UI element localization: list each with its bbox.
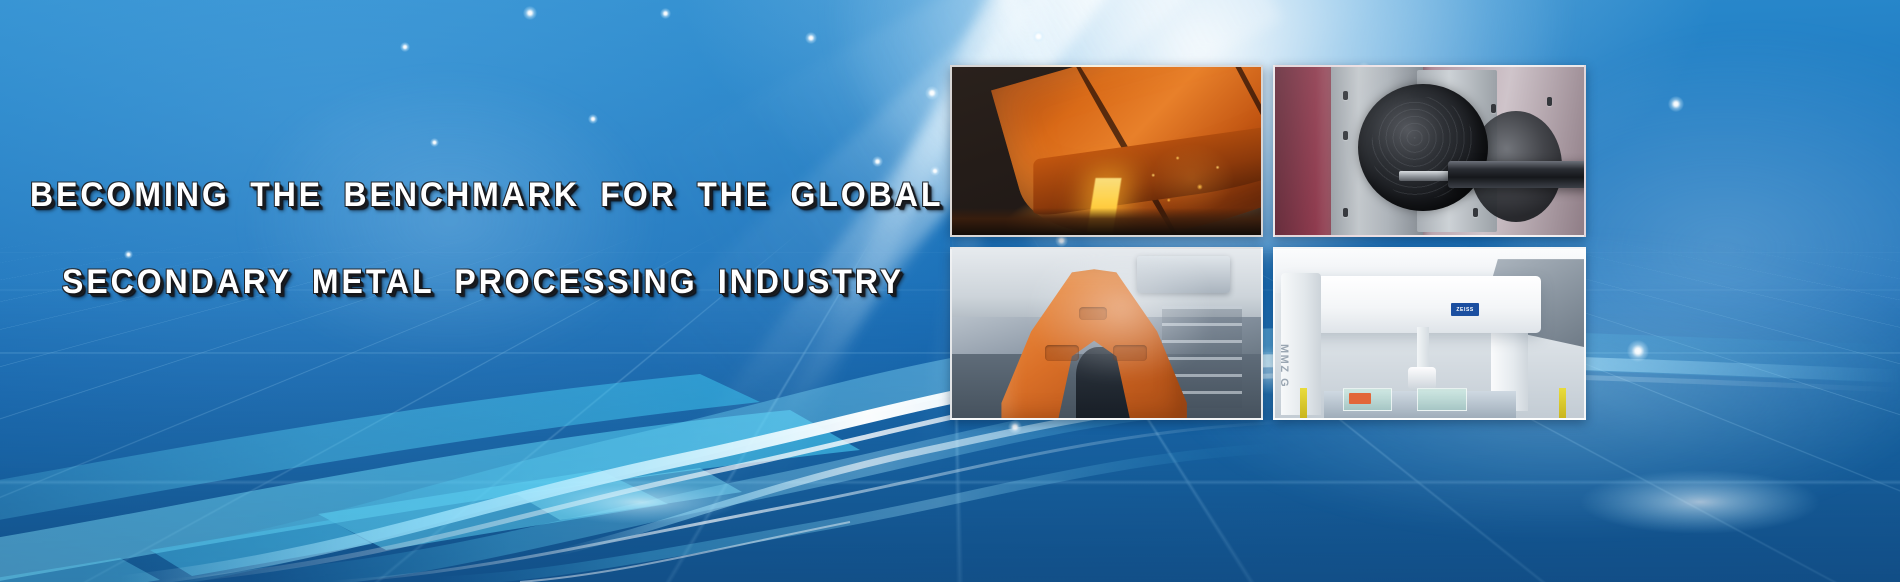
cmm-bridge <box>1287 276 1540 333</box>
dust-mist-overlay <box>1032 259 1205 377</box>
photo-grid: ZEISS MMZ G <box>950 65 1586 430</box>
sparkle-icon <box>400 42 410 52</box>
photo-casting-finishing[interactable] <box>950 247 1263 420</box>
photo-molten-metal-pour[interactable] <box>950 65 1263 237</box>
photo-cnc-machining[interactable] <box>1273 65 1586 237</box>
hero-banner: BECOMING THE BENCHMARK FOR THE GLOBAL SE… <box>0 0 1900 582</box>
sparkle-icon <box>872 156 883 167</box>
mold-floor <box>952 208 1261 235</box>
warning-label <box>1349 393 1371 404</box>
zeiss-logo-icon: ZEISS <box>1451 303 1479 316</box>
sparkle-icon <box>523 6 537 20</box>
sparkle-icon <box>805 32 817 44</box>
metal-highlight <box>1275 67 1584 235</box>
cmm-model-label: MMZ G <box>1278 344 1290 388</box>
safety-post <box>1300 388 1307 418</box>
safety-post <box>1559 388 1566 418</box>
photo-cmm-metrology-lab[interactable]: ZEISS MMZ G <box>1273 247 1586 420</box>
sparkle-icon <box>660 8 671 19</box>
zeiss-logo-text: ZEISS <box>1456 307 1473 313</box>
inspection-fixture <box>1417 388 1466 412</box>
